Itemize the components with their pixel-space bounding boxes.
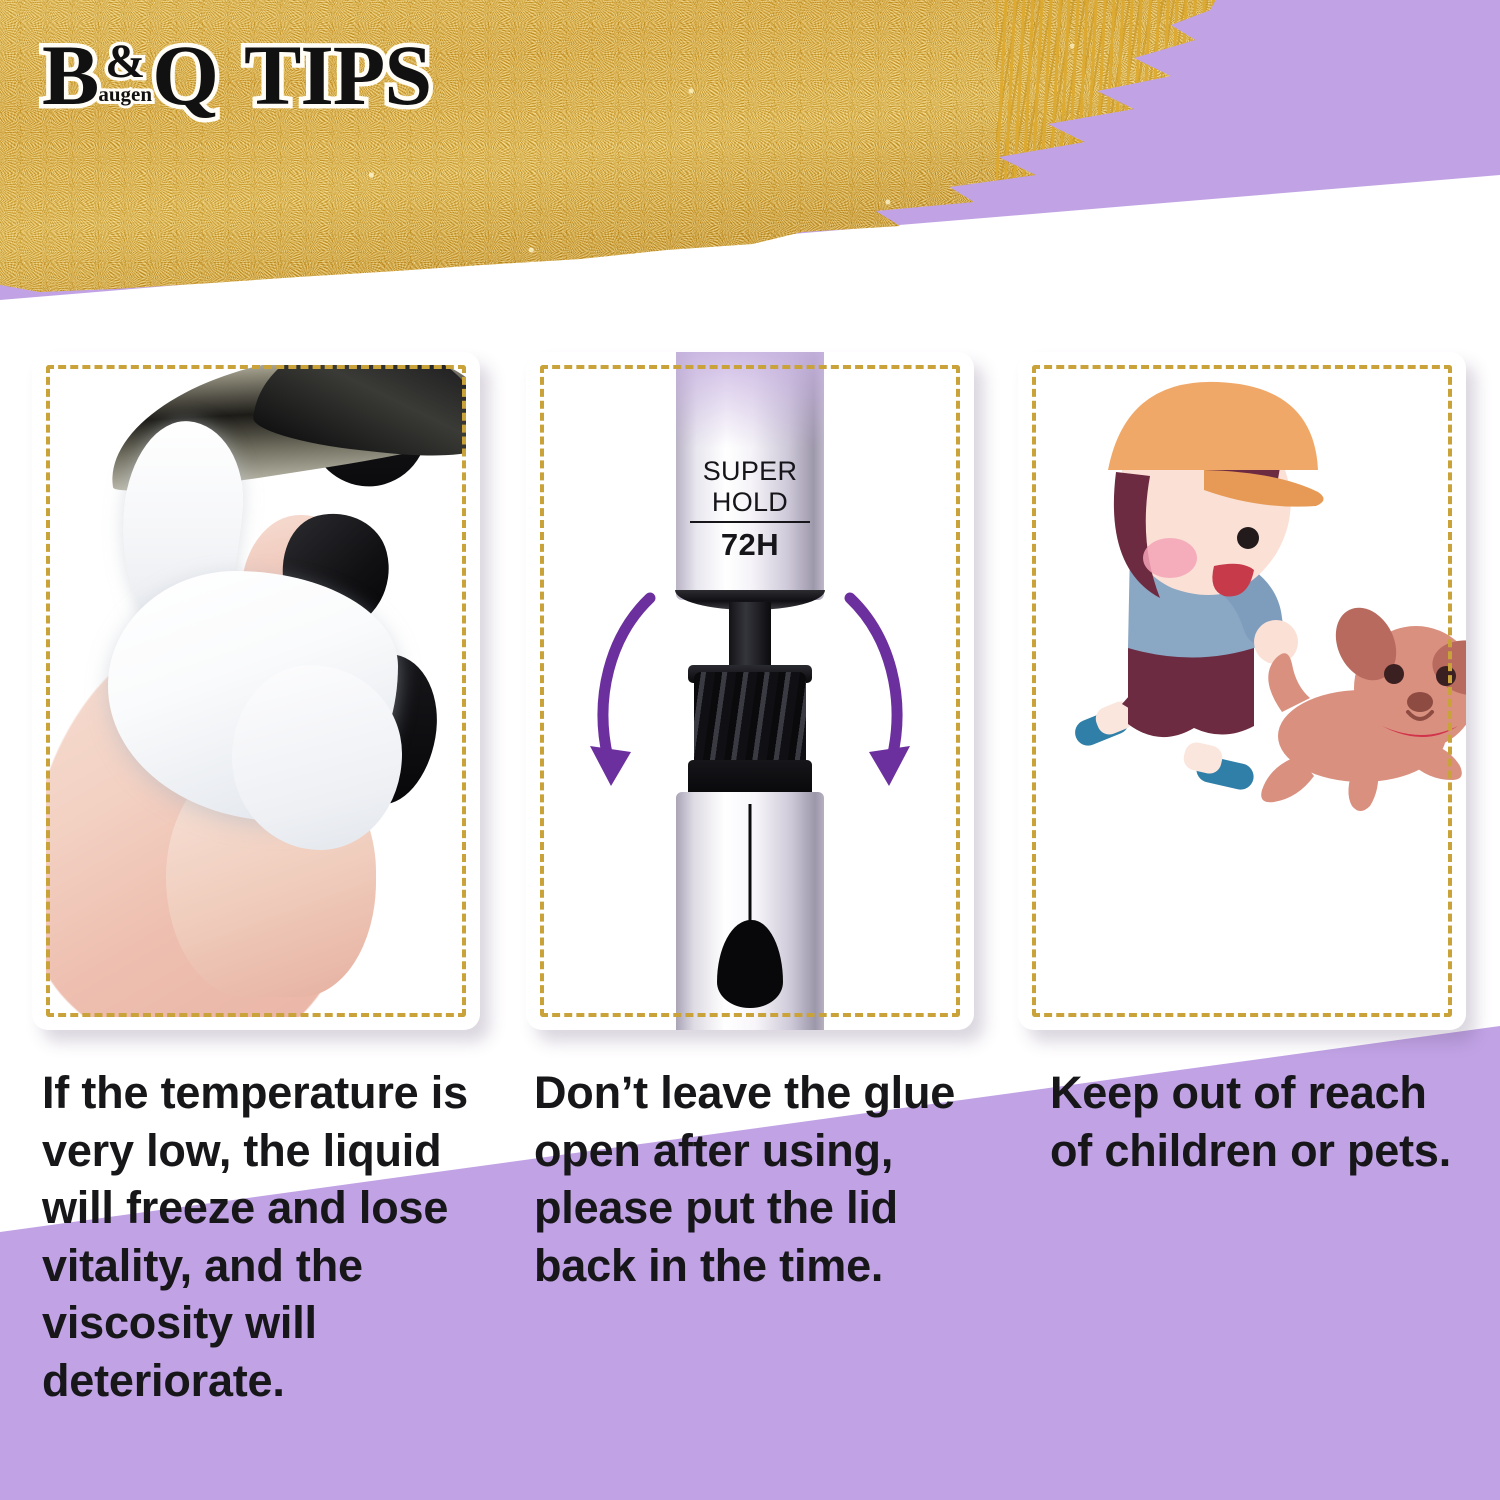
caption-keep-away: Keep out of reach of children or pets. xyxy=(1050,1064,1480,1179)
frozen-glue-photo xyxy=(46,365,466,1017)
logo-ampersand: & xyxy=(105,38,145,86)
brand-logo: B & augen Q TIPS xyxy=(42,34,431,117)
label-line-72h: 72H xyxy=(690,526,810,563)
logo-augen-text: augen xyxy=(98,84,152,105)
glue-bottle-illustration: SUPER HOLD 72H xyxy=(526,352,974,1030)
logo-word-tips: TIPS xyxy=(244,34,431,117)
caption-row: If the temperature is very low, the liqu… xyxy=(0,1064,1500,1484)
logo-letter-q: Q xyxy=(152,34,218,117)
bottle-label: SUPER HOLD 72H xyxy=(690,456,810,563)
logo-ampersand-group: & augen xyxy=(98,38,152,105)
glue-drip xyxy=(232,665,402,850)
panel-close-lid-card: SUPER HOLD 72H xyxy=(526,352,974,1030)
panel-temperature-card xyxy=(32,352,480,1030)
child-and-dog-illustration xyxy=(1018,352,1466,1030)
header-banner: B & augen Q TIPS xyxy=(0,0,1500,330)
label-line-super: SUPER xyxy=(690,456,810,487)
caption-temperature: If the temperature is very low, the liqu… xyxy=(42,1064,472,1410)
caption-close-lid: Don’t leave the glue open after using, p… xyxy=(534,1064,964,1294)
label-line-hold: HOLD xyxy=(690,487,810,523)
panel-row: SUPER HOLD 72H xyxy=(0,352,1500,1042)
rotate-left-arrow xyxy=(584,590,676,810)
panel-keep-away-card xyxy=(1018,352,1466,1030)
bottle-threaded-neck xyxy=(694,672,806,802)
rotate-right-arrow xyxy=(824,590,916,810)
logo-letter-b: B xyxy=(42,34,98,117)
infographic-page: B & augen Q TIPS xyxy=(0,0,1500,1500)
bottle-brush-stem xyxy=(749,804,752,936)
